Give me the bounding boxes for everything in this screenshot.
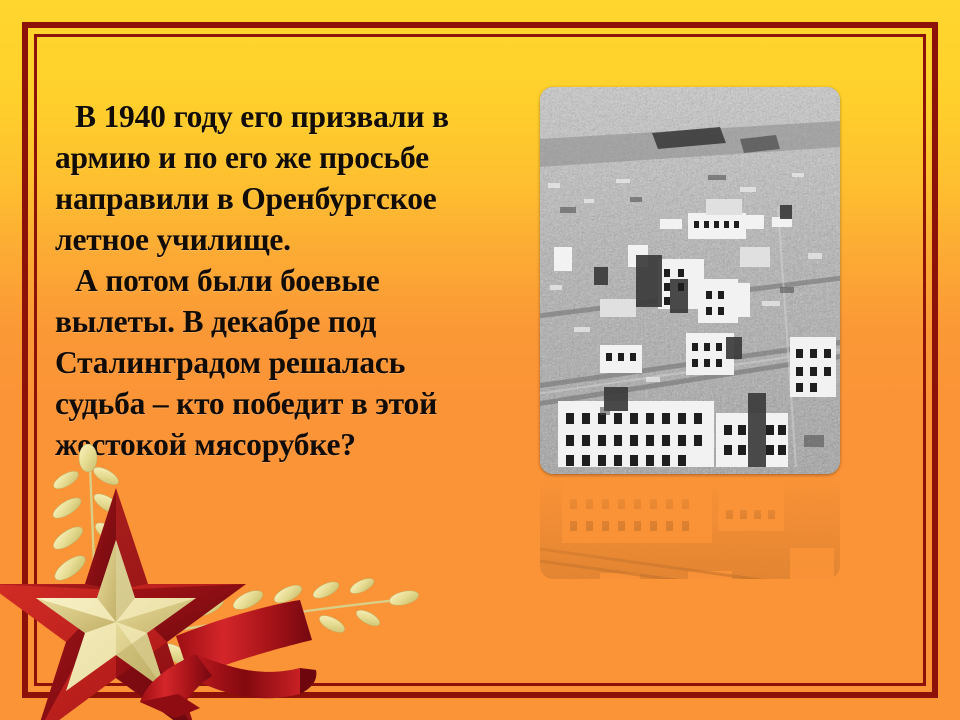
laurel-branch-horizontal — [149, 575, 420, 668]
presentation-slide: В 1940 году его призвали в армию и по ег… — [0, 0, 960, 720]
red-star — [0, 488, 246, 720]
ruined-city-aerial-photo[interactable] — [540, 87, 840, 474]
slide-text-block: В 1940 году его призвали в армию и по ег… — [55, 96, 475, 465]
victory-star-emblem — [0, 462, 440, 720]
victory-ribbon — [140, 600, 316, 718]
photo-reflection — [540, 474, 840, 579]
photo-frame[interactable] — [540, 87, 840, 474]
paragraph-2: А потом были боевые вылеты. В декабре по… — [55, 260, 475, 465]
laurel-branch-vertical — [50, 444, 132, 614]
paragraph-1: В 1940 году его призвали в армию и по ег… — [55, 96, 475, 260]
